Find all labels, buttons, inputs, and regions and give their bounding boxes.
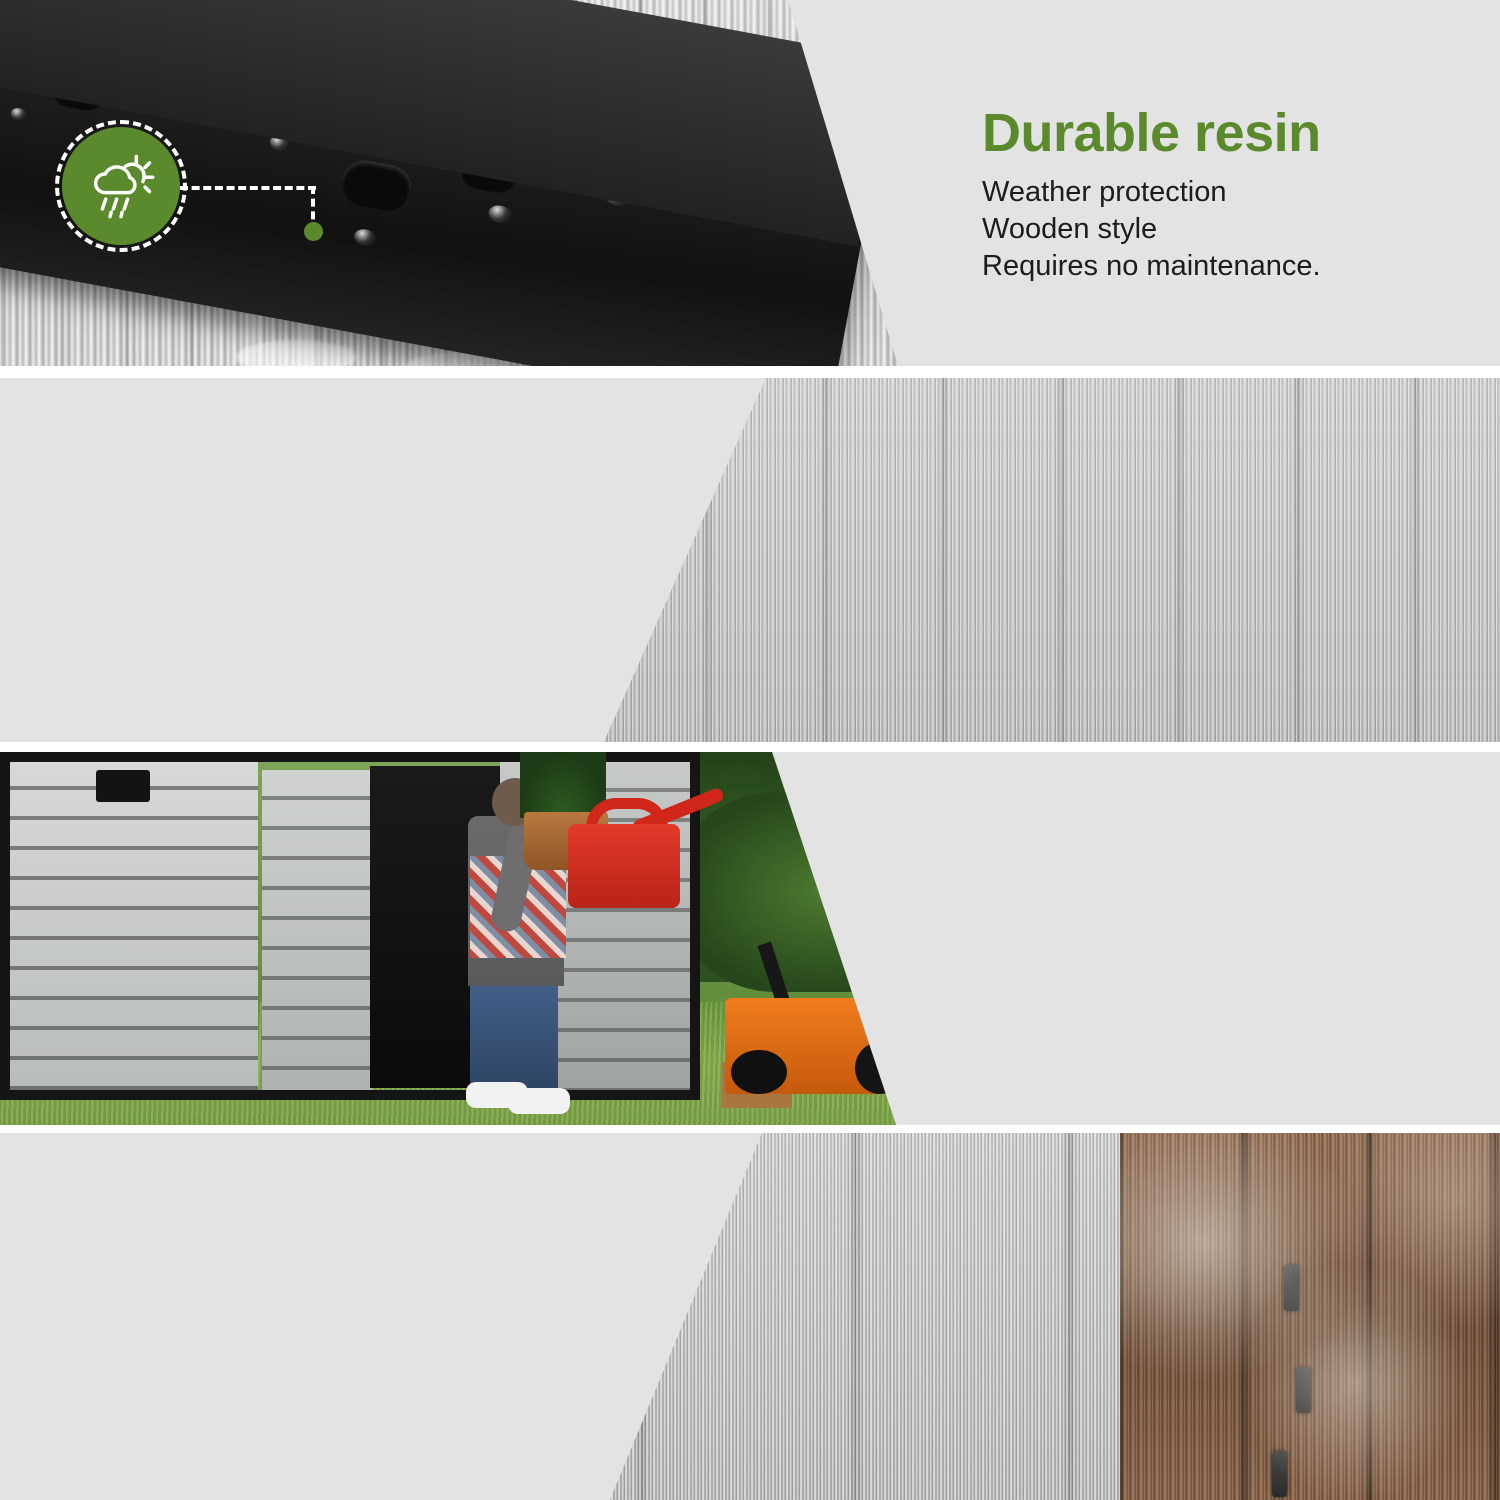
grey-wood-wall: [0, 378, 1500, 742]
rain-cloud-sun-icon: [62, 127, 180, 245]
feature-panel-airhole: Airhole All season protection keeps your…: [0, 378, 1500, 742]
red-watering-can: [568, 824, 680, 908]
person-legs: [470, 974, 558, 1096]
feature-panel-better-than-wood: Better than wood Zero Maintenance.: [0, 1133, 1500, 1500]
water-splash: [236, 340, 356, 366]
panel-1-heading: Durable resin: [982, 106, 1321, 160]
person-shoe: [508, 1088, 570, 1114]
grey-resin-plank: [0, 1133, 1120, 1500]
photo-wall-vent: [0, 378, 1500, 742]
bush: [680, 792, 900, 992]
photo-resin-vs-wood: [0, 1133, 1500, 1500]
weathered-wood-plank: [1120, 1133, 1500, 1500]
callout-dot: [304, 222, 323, 241]
panel-1-body: Weather protection Wooden style Requires…: [982, 174, 1321, 284]
photo-shed-with-person: [0, 752, 900, 1125]
small-wall-vent: [96, 770, 150, 802]
feature-panel-space-saving: Space-saving They free up indoor space b…: [0, 752, 1500, 1125]
panel-1-text: Durable resin Weather protection Wooden …: [982, 106, 1321, 284]
infographic-page: Durable resin Weather protection Wooden …: [0, 0, 1500, 1500]
feature-panel-durable-resin: Durable resin Weather protection Wooden …: [0, 0, 1500, 366]
connector-line-horizontal: [180, 186, 316, 190]
orange-mower: [725, 998, 900, 1094]
